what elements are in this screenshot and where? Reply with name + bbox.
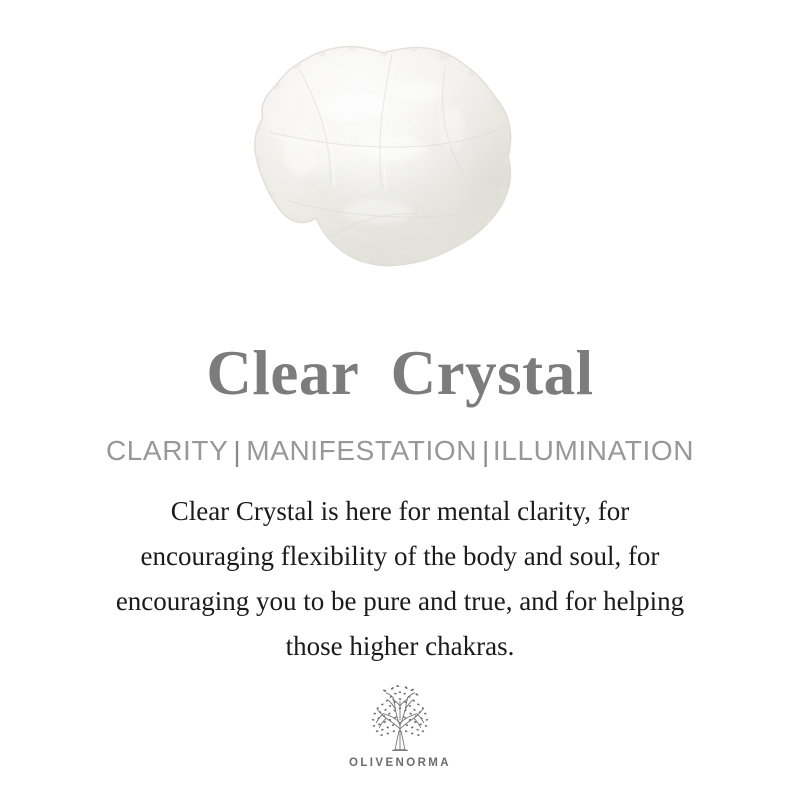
keyword-separator: | bbox=[477, 436, 493, 467]
crystal-body bbox=[240, 35, 530, 280]
description-line: Clear Crystal is here for mental clarity… bbox=[50, 489, 750, 534]
clear-crystal-image bbox=[0, 0, 800, 300]
description-line: encouraging you to be pure and true, and… bbox=[50, 579, 750, 624]
keyword-manifestation: MANIFESTATION bbox=[246, 435, 477, 466]
olive-tree-icon bbox=[361, 683, 439, 755]
brand-logo: OLIVENORMA bbox=[0, 669, 800, 770]
product-keywords: CLARITY|MANIFESTATION|ILLUMINATION bbox=[106, 405, 694, 465]
description-line: encouraging flexibility of the body and … bbox=[50, 534, 750, 579]
page-title: Clear Crystal bbox=[206, 300, 593, 405]
product-card: Clear Crystal CLARITY|MANIFESTATION|ILLU… bbox=[0, 0, 800, 800]
keyword-separator: | bbox=[228, 436, 246, 467]
keyword-illumination: ILLUMINATION bbox=[493, 435, 694, 466]
product-description: Clear Crystal is here for mental clarity… bbox=[50, 465, 750, 669]
keyword-clarity: CLARITY bbox=[106, 435, 228, 466]
product-image-container bbox=[0, 0, 800, 300]
brand-name: OLIVENORMA bbox=[0, 758, 800, 770]
description-line: those higher chakras. bbox=[50, 624, 750, 669]
